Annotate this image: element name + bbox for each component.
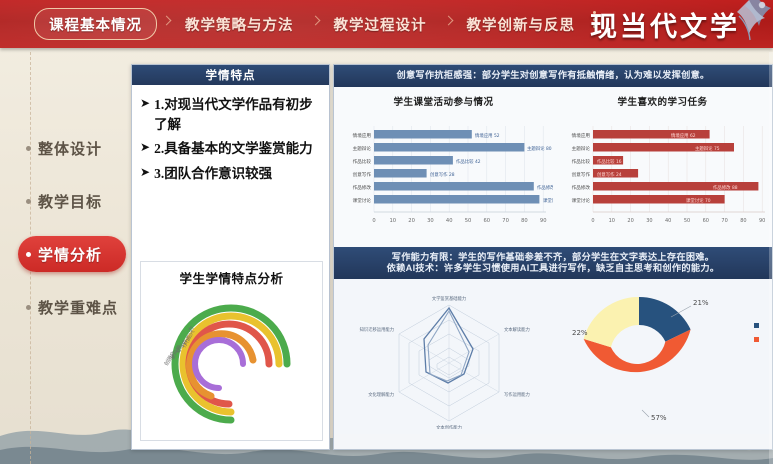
chart-ability-radar: 文学鉴赏基础能力 文本解读能力 写作运用能力 文本创作能力 文化理解能力 知识迁… [334,279,564,434]
student-traits-card: 学情特点 ➤ 1.对现当代文学作品有初步了解 ➤ 2.具备基本的文学鉴赏能力 ➤… [131,64,330,450]
svg-text:知识迁移运用能力: 知识迁移运用能力 [360,326,394,333]
bullet-dot-icon [26,199,31,204]
right-edge-strip [769,52,773,464]
chart-title: 学生课堂活动参与情况 [334,87,553,108]
list-item: ➤ 2.具备基本的文学鉴赏能力 [140,139,321,159]
svg-text:10: 10 [609,218,615,224]
sidebar-item-label: 教学目标 [38,191,102,212]
bar-chart-svg: 情境应用 主题辩论 作品比较 创意写作 作品修改 课堂讨论 情境应用 52 主题… [334,108,553,236]
spiral-ring-chart: 力 能兴 作作 写写会 意风学 创团文 [145,288,318,434]
svg-text:80: 80 [740,218,746,224]
arrow-bullet-icon: ➤ [140,164,150,181]
donut-legend [754,323,759,342]
arrow-bullet-icon: ➤ [140,139,150,156]
svg-text:0: 0 [591,218,594,224]
donut-label-a: 21% [693,299,709,307]
chart-title: 学生学情特点分析 [141,262,322,287]
tab-label: 教学创新与反思 [467,14,576,35]
donut-chart-svg: 21% 22% 57% [564,279,772,429]
svg-text:文化理解能力: 文化理解能力 [368,391,394,398]
sidebar-item-label: 教学重难点 [38,297,118,318]
tab-label: 课程基本情况 [49,14,142,35]
svg-text:作品修改: 作品修改 [572,184,591,191]
svg-text:作品比较 16: 作品比较 16 [597,158,622,165]
banner-creative-writing-resistance: 创意写作抗拒感强：部分学生对创意写作有抵触情绪，认为难以发挥创意。 [334,65,772,87]
svg-text:创意写作: 创意写作 [353,171,372,178]
chart-classroom-participation: 学生课堂活动参与情况 [334,87,553,247]
sidebar-item-student-analysis[interactable]: 学情分析 [18,236,126,272]
svg-text:60: 60 [483,218,490,224]
student-traits-bullet-list: ➤ 1.对现当代文学作品有初步了解 ➤ 2.具备基本的文学鉴赏能力 ➤ 3.团队… [132,85,329,192]
radar-chart-svg: 文学鉴赏基础能力 文本解读能力 写作运用能力 文本创作能力 文化理解能力 知识迁… [334,279,564,429]
list-item: ➤ 1.对现当代文学作品有初步了解 [140,95,321,134]
bullet-dot-icon [26,305,31,310]
svg-text:90: 90 [759,218,765,224]
svg-text:90: 90 [540,218,547,224]
svg-text:70: 70 [502,218,509,224]
svg-text:主题辩论 75: 主题辩论 75 [695,145,720,152]
svg-text:情境应用: 情境应用 [353,132,372,139]
svg-text:课堂讨论 70: 课堂讨论 70 [686,197,711,204]
sidebar-item-key-difficulties[interactable]: 教学重难点 [18,289,126,325]
sidebar-item-teaching-goals[interactable]: 教学目标 [18,183,126,219]
arrow-bullet-icon: ➤ [140,95,150,112]
svg-text:作品修改: 作品修改 [353,184,372,191]
student-traits-card-header: 学情特点 [132,65,329,85]
sidebar-nav: 整体设计 教学目标 学情分析 教学重难点 [18,130,126,342]
banner-text-line1: 写作能力有限：学生的写作基础参差不齐，部分学生在文字表达上存在困难。 [392,252,715,264]
donut-label-c: 22% [572,329,588,337]
list-item-text: 3.团队合作意识较强 [154,164,272,184]
banner-text: 创意写作抗拒感强：部分学生对创意写作有抵触情绪，认为难以发挥创意。 [396,70,709,82]
chart-active-learning-tasks: 学生喜欢的学习任务 [553,87,772,247]
svg-text:主题辩论: 主题辩论 [353,145,372,152]
svg-text:60: 60 [703,218,709,224]
banner-text-line2: 依赖AI技术：许多学生习惯使用AI工具进行写作，缺乏自主思考和创作的能力。 [387,263,720,275]
tab-separator-chevron-icon [439,0,455,48]
svg-text:作品修改 85: 作品修改 85 [537,184,553,191]
svg-text:50: 50 [684,218,690,224]
list-item-text: 1.对现当代文学作品有初步了解 [154,95,321,134]
chart-ai-usage-donut: 21% 22% 57% [564,279,772,434]
banner-writing-ability-ai: 写作能力有限：学生的写作基础参差不齐，部分学生在文字表达上存在困难。 依赖AI技… [334,247,772,279]
svg-text:40: 40 [446,218,453,224]
svg-text:文学鉴赏基础能力: 文学鉴赏基础能力 [432,295,466,302]
svg-text:30: 30 [427,218,434,224]
nav-tabs: 课程基本情况 教学策略与方法 教学过程设计 教学创新与反思 [34,0,606,48]
svg-text:创意写作 24: 创意写作 24 [597,171,622,178]
svg-text:情境应用 62: 情境应用 62 [671,132,696,139]
bullet-dot-icon [26,252,31,257]
tab-teaching-strategy[interactable]: 教学策略与方法 [173,9,306,39]
donut-label-b: 57% [651,414,667,422]
svg-text:40: 40 [665,218,671,224]
bullet-dot-icon [26,146,31,151]
chart-title: 学生喜欢的学习任务 [553,87,772,108]
svg-text:50: 50 [465,218,472,224]
page-title: 现当代文学 [590,4,740,44]
tab-innovation-reflection[interactable]: 教学创新与反思 [455,9,588,39]
charts-row-top: 学生课堂活动参与情况 [334,87,772,247]
list-item: ➤ 3.团队合作意识较强 [140,164,321,184]
svg-text:主题辩论: 主题辩论 [572,145,591,152]
tab-separator-chevron-icon [157,0,173,48]
analysis-dashboard-card: 创意写作抗拒感强：部分学生对创意写作有抵触情绪，认为难以发挥创意。 学生课堂活动… [333,64,773,450]
charts-row-bottom: 文学鉴赏基础能力 文本解读能力 写作运用能力 文本创作能力 文化理解能力 知识迁… [334,279,772,434]
svg-text:文本创作能力: 文本创作能力 [436,424,462,429]
tab-label: 教学策略与方法 [185,14,294,35]
bar-chart-svg: 情境应用 主题辩论 作品比较 创意写作 作品修改 课堂讨论 情境应用 62 主题… [553,108,772,236]
student-traits-chart-card: 学生学情特点分析 力 能兴 作作 写写会 意风学 创团文 [140,261,323,441]
svg-text:主题辩论 80: 主题辩论 80 [527,145,552,152]
svg-text:情境应用: 情境应用 [572,132,591,139]
svg-text:课堂讨论 88: 课堂讨论 88 [543,197,553,204]
svg-text:10: 10 [389,218,396,224]
svg-text:70: 70 [721,218,727,224]
top-ribbon-bar: 课程基本情况 教学策略与方法 教学过程设计 教学创新与反思 现当代文学 [0,0,773,48]
svg-text:20: 20 [627,218,633,224]
tab-course-basics[interactable]: 课程基本情况 [34,8,157,40]
list-item-text: 2.具备基本的文学鉴赏能力 [154,139,313,159]
svg-text:30: 30 [646,218,652,224]
svg-text:20: 20 [408,218,415,224]
svg-text:文本解读能力: 文本解读能力 [504,326,530,333]
svg-text:作品比较: 作品比较 [353,158,372,165]
svg-text:写作运用能力: 写作运用能力 [504,391,530,398]
decorative-flower-bird-icon [725,0,773,48]
sidebar-item-label: 整体设计 [38,138,102,159]
svg-text:创意写作: 创意写作 [572,171,591,178]
sidebar-item-label: 学情分析 [38,244,102,265]
svg-text:作品比较 42: 作品比较 42 [456,158,481,165]
svg-text:情境应用 52: 情境应用 52 [475,132,500,139]
svg-text:创意写作 28: 创意写作 28 [430,171,455,178]
tab-label: 教学过程设计 [334,14,427,35]
card-header-label: 学情特点 [206,67,256,83]
svg-text:课堂讨论: 课堂讨论 [572,197,591,204]
svg-text:课堂讨论: 课堂讨论 [353,197,372,204]
svg-text:作品修改 88: 作品修改 88 [713,184,738,191]
sidebar-item-overall-design[interactable]: 整体设计 [18,130,126,166]
tab-process-design[interactable]: 教学过程设计 [322,9,439,39]
svg-text:作品比较: 作品比较 [572,158,591,165]
tab-separator-chevron-icon [306,0,322,48]
svg-text:0: 0 [372,218,375,224]
svg-text:80: 80 [521,218,528,224]
